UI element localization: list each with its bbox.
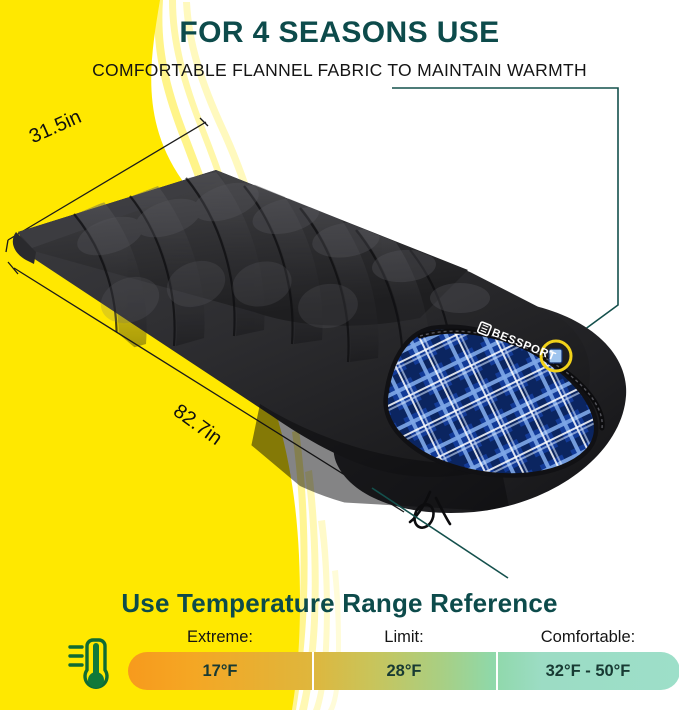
brand-logo: BESSPORT ® — [477, 321, 558, 364]
length-dimension-line — [14, 268, 404, 512]
zipper-track — [420, 331, 602, 428]
svg-text:®: ® — [548, 348, 555, 356]
sleeping-bag: BESSPORT ® — [13, 170, 630, 530]
temperature-table-header-row: Extreme: Limit: Comfortable: — [128, 624, 679, 652]
quilt-baffles — [72, 172, 510, 512]
column-header-extreme: Extreme: — [128, 624, 312, 652]
callout-leader-top — [392, 88, 618, 352]
brand-logo-text: BESSPORT — [490, 327, 558, 364]
length-dimension-label: 82.7in — [168, 400, 226, 451]
column-header-comfortable: Comfortable: — [496, 624, 679, 652]
temperature-value-comfortable: 32°F - 50°F — [496, 652, 679, 690]
callout-leader-bottom — [372, 488, 508, 578]
flannel-callout-ring — [541, 341, 571, 371]
temperature-value-limit: 28°F — [312, 652, 496, 690]
product-infographic: FOR 4 SEASONS USE COMFORTABLE FLANNEL FA… — [0, 0, 679, 710]
flannel-lining — [370, 310, 630, 500]
dimension-lines — [6, 118, 404, 512]
width-dimension-label: 31.5in — [26, 106, 85, 149]
temperature-range-table: Extreme: Limit: Comfortable: 17°F 28°F 3… — [128, 624, 679, 690]
drawcord — [410, 492, 450, 530]
temperature-value-extreme: 17°F — [128, 652, 312, 690]
page-subtitle: COMFORTABLE FLANNEL FABRIC TO MAINTAIN W… — [0, 60, 679, 81]
page-title: FOR 4 SEASONS USE — [0, 16, 679, 50]
column-header-limit: Limit: — [312, 624, 496, 652]
temperature-section-title: Use Temperature Range Reference — [0, 588, 679, 619]
thermometer-icon — [62, 634, 120, 696]
temperature-gradient-bar: 17°F 28°F 32°F - 50°F — [128, 652, 679, 690]
